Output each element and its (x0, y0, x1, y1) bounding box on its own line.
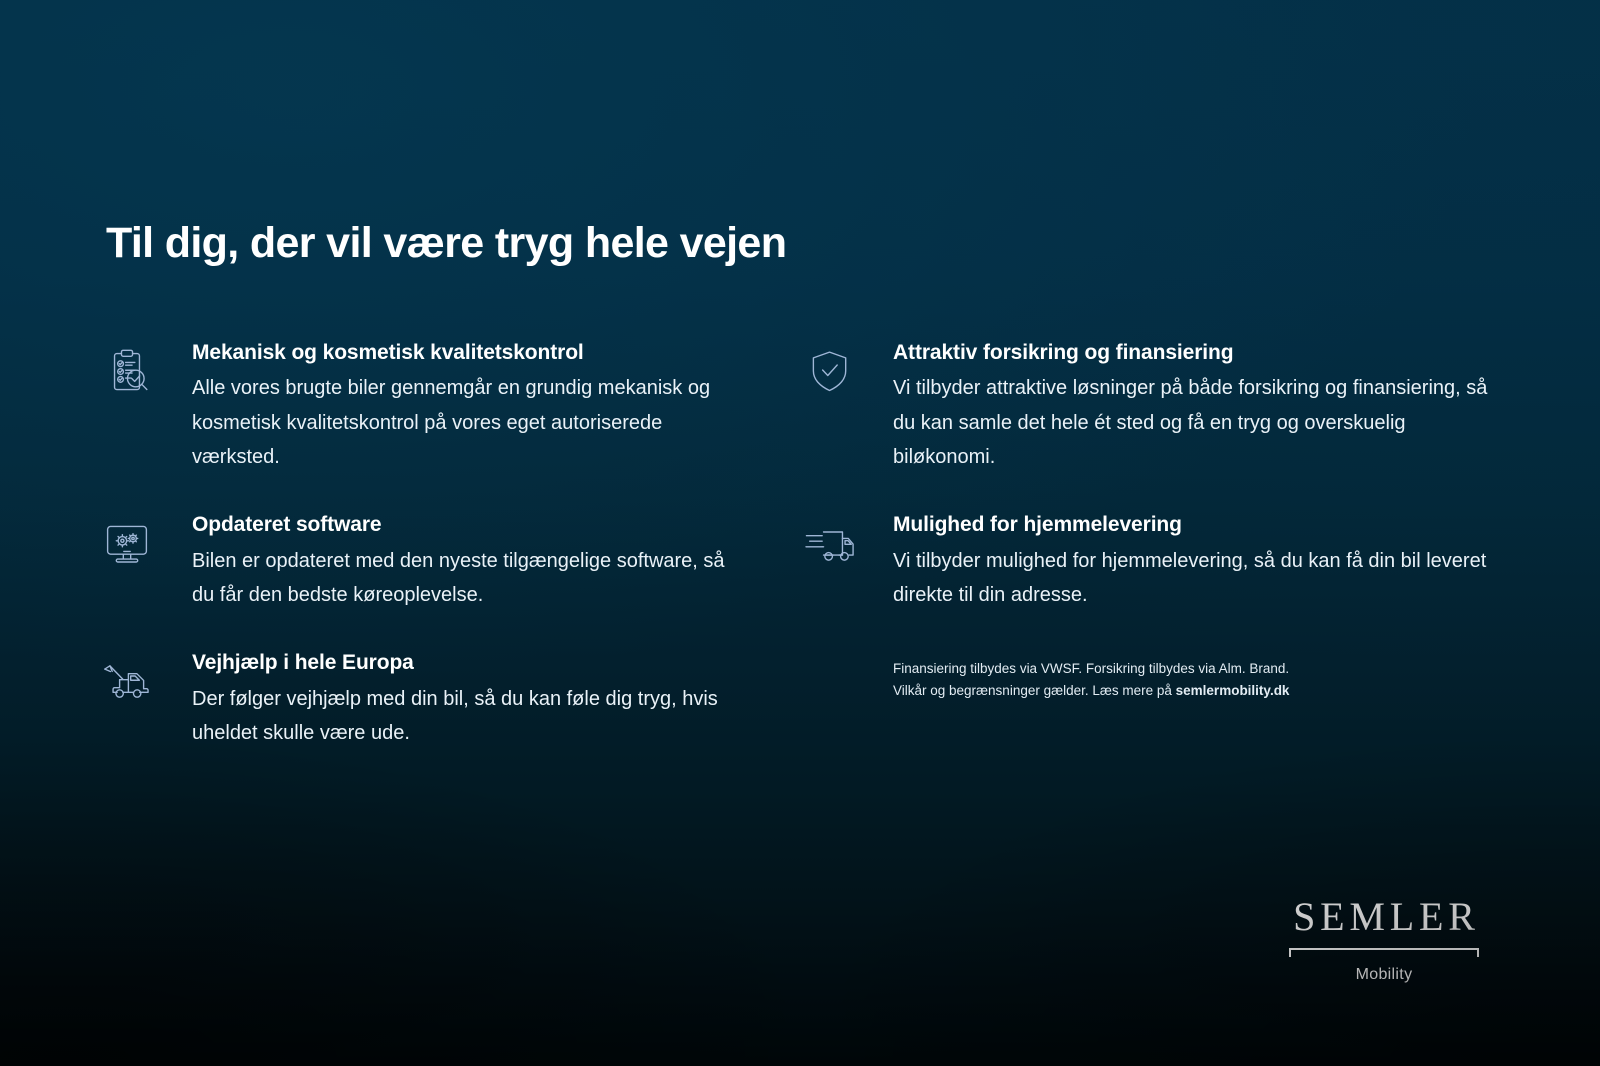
feature-title: Opdateret software (192, 512, 740, 537)
disclaimer-line-2: Vilkår og begrænsninger gælder. Læs mere… (893, 680, 1363, 702)
feature-text: Mekanisk og kosmetisk kvalitetskontrol A… (192, 340, 740, 474)
feature-insurance-financing: Attraktiv forsikring og finansiering Vi … (803, 340, 1503, 474)
monitor-gears-icon (100, 512, 192, 568)
logo-wordmark: SEMLER (1286, 897, 1482, 937)
features-column-right: Attraktiv forsikring og finansiering Vi … (803, 340, 1503, 702)
feature-body: Vi tilbyder mulighed for hjemmelevering,… (893, 544, 1493, 613)
semler-mobility-logo: SEMLER Mobility (1286, 897, 1482, 984)
feature-body: Alle vores brugte biler gennemgår en gru… (192, 371, 740, 474)
feature-body: Vi tilbyder attraktive løsninger på både… (893, 371, 1493, 474)
logo-divider (1289, 948, 1479, 959)
feature-text: Attraktiv forsikring og finansiering Vi … (893, 340, 1503, 474)
feature-body: Bilen er opdateret med den nyeste tilgæn… (192, 544, 740, 613)
feature-body: Der følger vejhjælp med din bil, så du k… (192, 682, 740, 751)
shield-check-icon (803, 340, 893, 396)
feature-text: Vejhjælp i hele Europa Der følger vejhjæ… (192, 650, 740, 750)
feature-home-delivery: Mulighed for hjemmelevering Vi tilbyder … (803, 512, 1503, 612)
disclaimer: Finansiering tilbydes via VWSF. Forsikri… (893, 658, 1363, 702)
disclaimer-line-1: Finansiering tilbydes via VWSF. Forsikri… (893, 658, 1363, 680)
page-title: Til dig, der vil være tryg hele vejen (106, 219, 786, 268)
promo-slide: Til dig, der vil være tryg hele vejen (0, 0, 1600, 1066)
tow-truck-icon (100, 650, 192, 706)
feature-title: Vejhjælp i hele Europa (192, 650, 740, 675)
clipboard-check-magnifier-icon (100, 340, 192, 396)
feature-text: Mulighed for hjemmelevering Vi tilbyder … (893, 512, 1503, 612)
feature-title: Mekanisk og kosmetisk kvalitetskontrol (192, 340, 740, 365)
delivery-truck-icon (803, 512, 893, 568)
disclaimer-line-2-text: Vilkår og begrænsninger gælder. Læs mere… (893, 683, 1176, 698)
feature-updated-software: Opdateret software Bilen er opdateret me… (100, 512, 740, 612)
feature-quality-control: Mekanisk og kosmetisk kvalitetskontrol A… (100, 340, 740, 474)
feature-title: Mulighed for hjemmelevering (893, 512, 1503, 537)
disclaimer-website-link[interactable]: semlermobility.dk (1176, 683, 1290, 698)
logo-subtitle: Mobility (1286, 966, 1482, 984)
feature-title: Attraktiv forsikring og finansiering (893, 340, 1503, 365)
feature-roadside-assistance: Vejhjælp i hele Europa Der følger vejhjæ… (100, 650, 740, 750)
features-column-left: Mekanisk og kosmetisk kvalitetskontrol A… (100, 340, 740, 750)
feature-text: Opdateret software Bilen er opdateret me… (192, 512, 740, 612)
